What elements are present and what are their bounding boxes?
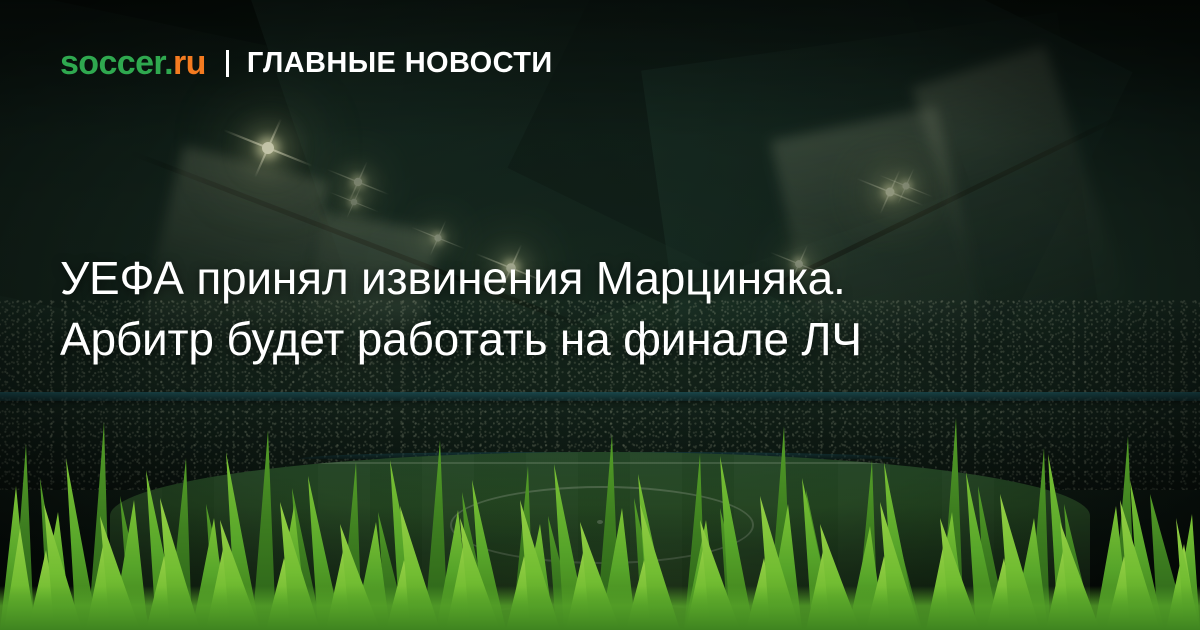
site-header: soccer.ru ГЛАВНЫЕ НОВОСТИ [60,46,553,80]
headline: УЕФА принял извинения Марциняка. Арбитр … [60,248,1150,369]
header-kicker: ГЛАВНЫЕ НОВОСТИ [247,49,553,78]
logo-primary-text: soccer. [60,44,173,82]
floodlight-icon-6 [886,188,895,197]
floodlight-icon-3 [351,199,358,206]
site-logo[interactable]: soccer.ru [60,46,206,80]
pitch-touchline [136,462,1064,464]
pitch-center-spot [597,520,603,524]
floodlight-icon-7 [902,182,909,189]
logo-accent-text: ru [173,44,206,82]
floodlight-icon-1 [262,142,274,154]
news-banner: soccer.ru ГЛАВНЫЕ НОВОСТИ УЕФА принял из… [0,0,1200,630]
perimeter-barrier-upper [0,392,1200,401]
pitch-center-circle [450,486,754,564]
floodlight-icon-2 [354,178,362,186]
floodlight-icon-4 [434,234,441,241]
football-pitch [110,452,1090,630]
headline-line-2: Арбитр будет работать на финале ЛЧ [60,309,1150,370]
header-divider [226,50,229,77]
headline-line-1: УЕФА принял извинения Марциняка. [60,248,1150,309]
